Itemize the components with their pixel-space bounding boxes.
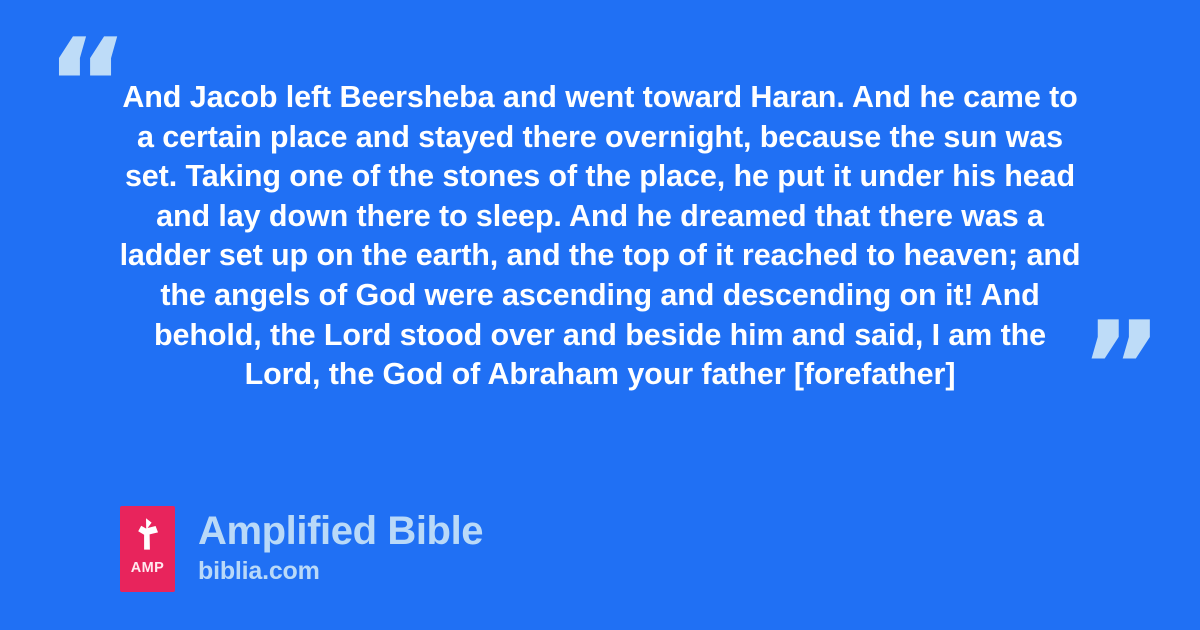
site-url-label: biblia.com	[198, 556, 483, 586]
closing-quote-icon: ”	[1080, 305, 1163, 431]
opening-quote-icon: “	[46, 22, 129, 148]
quote-block: And Jacob left Beersheba and went toward…	[118, 78, 1082, 395]
bible-version-badge: AMP	[120, 506, 175, 592]
scripture-quote-text: And Jacob left Beersheba and went toward…	[118, 78, 1082, 395]
brand-text-group: Amplified Bible biblia.com	[198, 506, 483, 586]
badge-abbreviation-label: AMP	[131, 561, 164, 576]
cross-icon	[133, 517, 163, 551]
bible-version-title: Amplified Bible	[198, 508, 483, 554]
brand-footer: AMP Amplified Bible biblia.com	[120, 506, 483, 592]
quote-card: “ ” And Jacob left Beersheba and went to…	[0, 0, 1200, 630]
